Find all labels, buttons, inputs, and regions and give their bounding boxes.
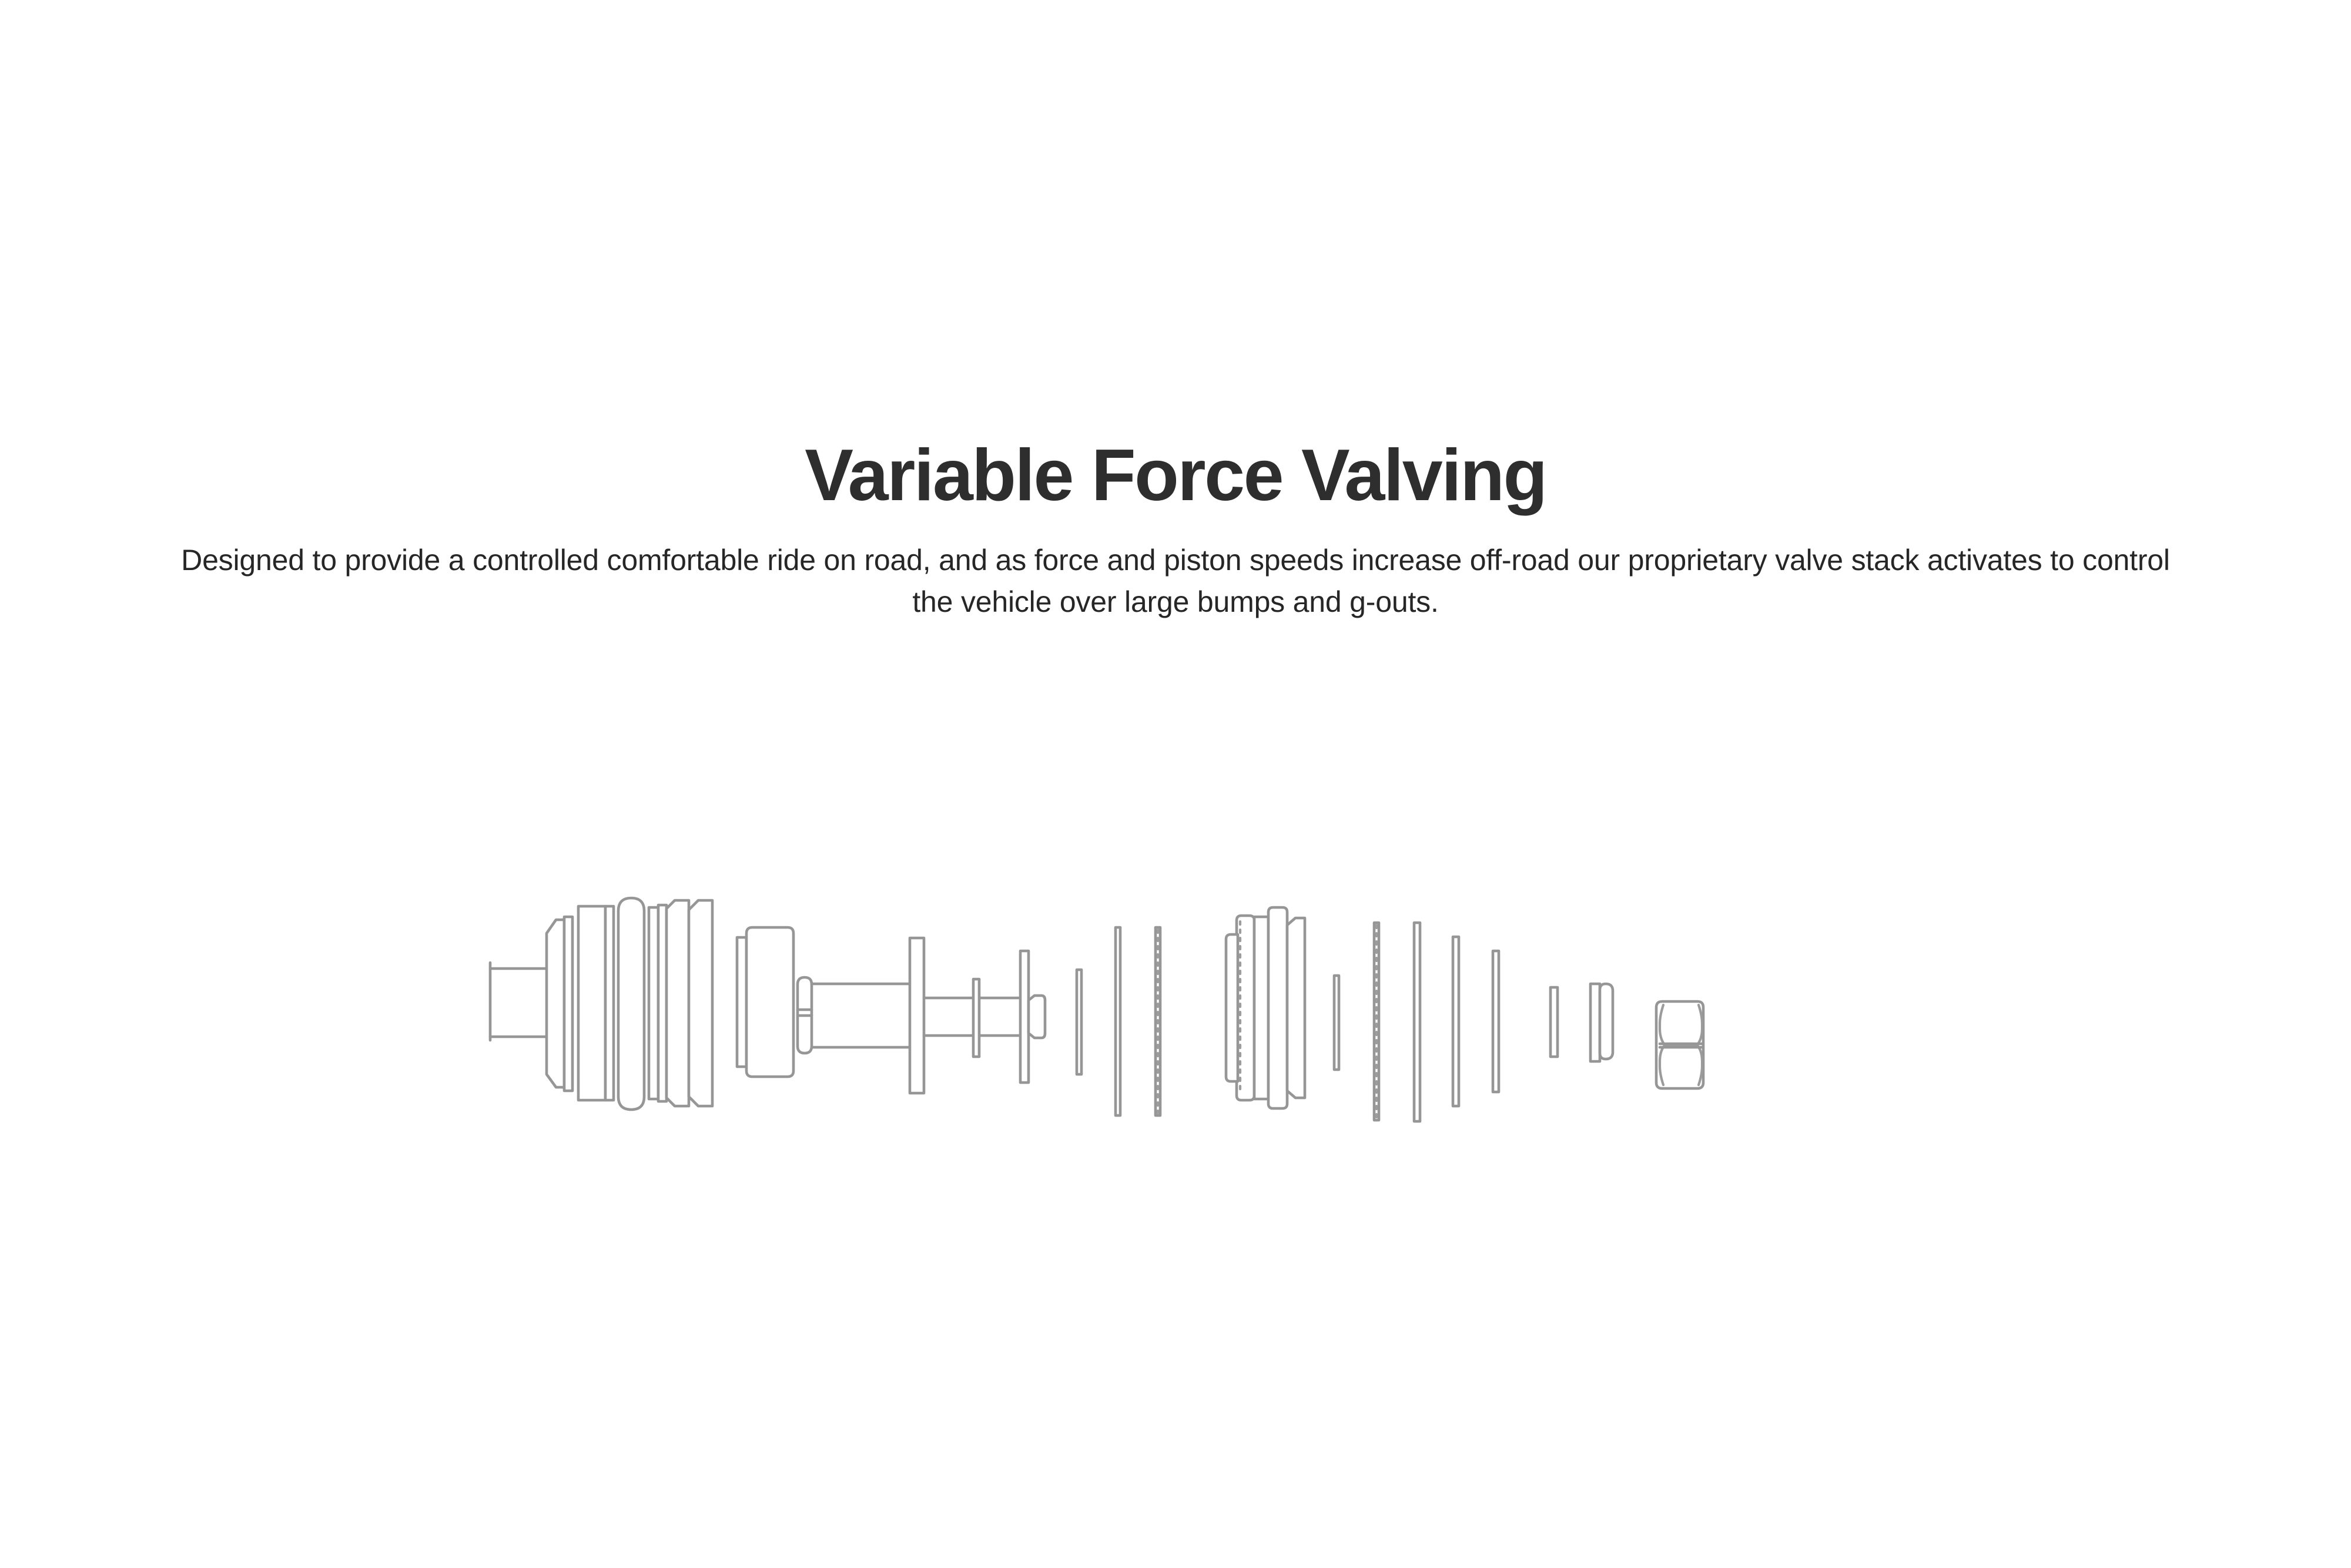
page-root: Variable Force Valving Designed to provi… <box>0 0 2351 1568</box>
part-crush-washer <box>1590 984 1613 1061</box>
part-piston-body <box>1226 907 1305 1108</box>
part-hex-nut <box>1656 1001 1703 1088</box>
page-title: Variable Force Valving <box>0 435 2351 517</box>
part-spring-stack <box>547 898 712 1110</box>
exploded-assembly-svg <box>447 864 1951 1252</box>
part-bolt-head-plate <box>1020 951 1045 1083</box>
exploded-valve-stack-illustration <box>447 864 1951 1252</box>
part-washer-large <box>910 938 924 1093</box>
page-subtitle: Designed to provide a controlled comfort… <box>170 540 2181 623</box>
part-shim-group-post-piston <box>1334 923 1558 1121</box>
part-shim-group-pre-piston <box>1077 927 1160 1115</box>
hero-text-block: Variable Force Valving Designed to provi… <box>0 435 2351 623</box>
part-washer-small <box>973 979 979 1057</box>
part-spacer-sleeve <box>812 940 911 1092</box>
part-seal-head-body <box>737 927 793 1077</box>
part-o-ring <box>798 977 812 1053</box>
